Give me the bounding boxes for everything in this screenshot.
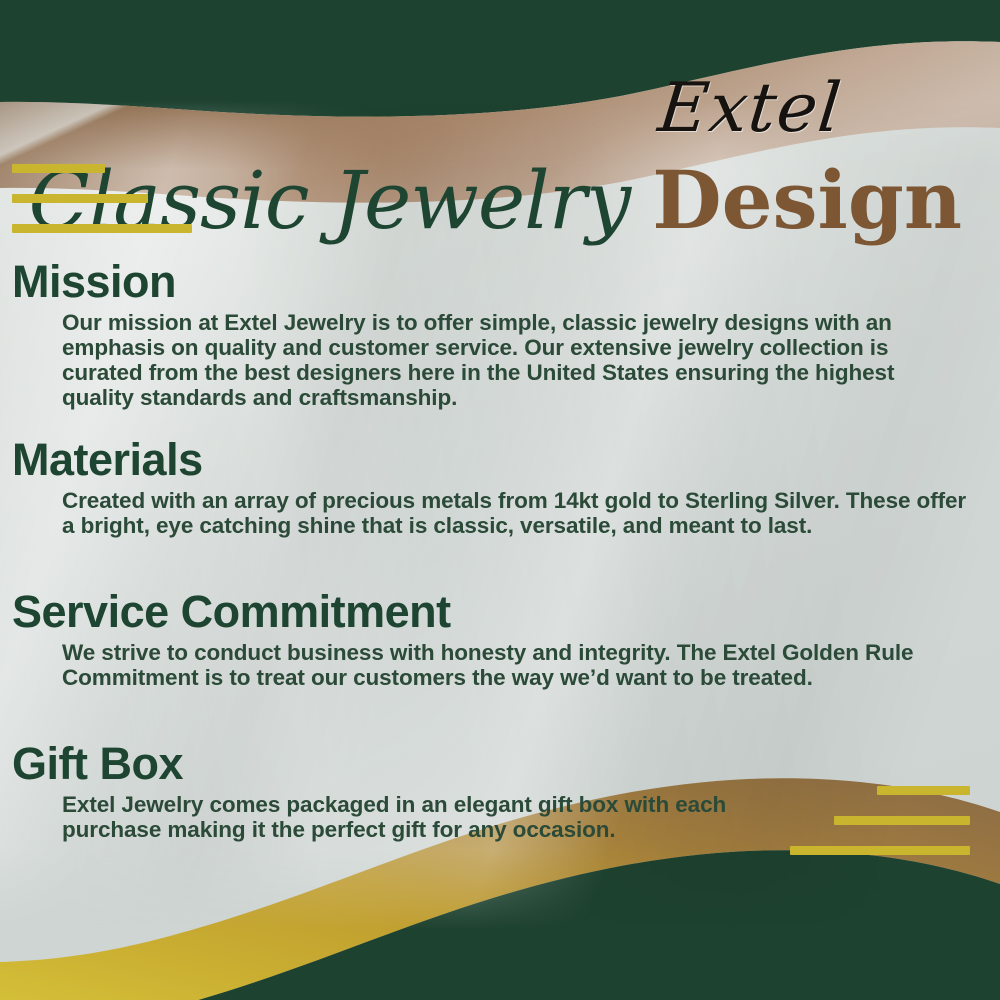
gold-rule	[877, 786, 970, 795]
gold-rule	[790, 846, 970, 855]
section-body: Our mission at Extel Jewelry is to offer…	[62, 310, 968, 410]
section-service-commitment: Service Commitment We strive to conduct …	[0, 586, 1000, 690]
section-mission: Mission Our mission at Extel Jewelry is …	[0, 256, 1000, 410]
section-heading: Gift Box	[12, 738, 1000, 790]
gold-rule	[12, 194, 148, 203]
section-heading: Service Commitment	[12, 586, 1000, 638]
section-body: Extel Jewelry comes packaged in an elega…	[62, 792, 750, 842]
gold-rules-top-left	[12, 164, 192, 254]
page-title-accent: Design	[652, 152, 962, 248]
section-body: We strive to conduct business with hones…	[62, 640, 968, 690]
gold-rule	[12, 164, 105, 173]
gold-rules-bottom-right	[790, 786, 970, 876]
section-body: Created with an array of precious metals…	[62, 488, 968, 538]
gold-rule	[834, 816, 970, 825]
poster-canvas: Extel Classic Jewelry Design Mission Our…	[0, 0, 1000, 1000]
brand-logo-extel: Extel	[596, 73, 904, 145]
gold-rule	[12, 224, 192, 233]
section-heading: Mission	[12, 256, 1000, 308]
section-materials: Materials Created with an array of preci…	[0, 434, 1000, 538]
section-heading: Materials	[12, 434, 1000, 486]
